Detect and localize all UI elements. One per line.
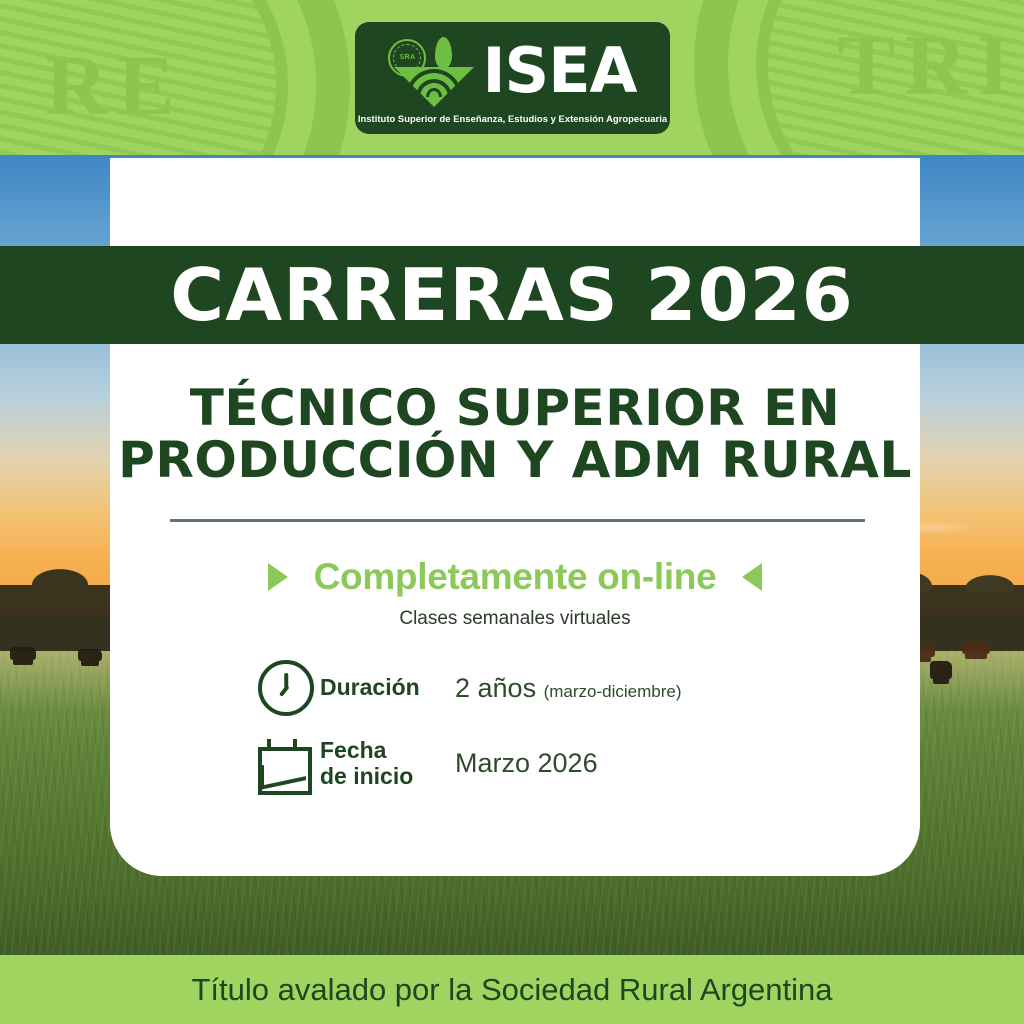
wifi-signal-icon — [408, 67, 460, 101]
details-list: Duración 2 años (marzo-diciembre) Fecha … — [258, 660, 918, 812]
footer-text: Título avalado por la Sociedad Rural Arg… — [191, 972, 832, 1008]
fecha-label-line-1: Fecha — [320, 738, 455, 764]
leaf-icon — [435, 37, 452, 69]
seal-watermark-letters: RE — [0, 0, 350, 155]
duracion-note: (marzo-diciembre) — [544, 682, 682, 701]
header-band: RE TRI SRA — [0, 0, 1024, 155]
cow — [78, 649, 102, 661]
detail-row-fecha-inicio: Fecha de inicio Marzo 2026 — [258, 738, 918, 790]
footer-band: Título avalado por la Sociedad Rural Arg… — [0, 955, 1024, 1024]
detail-label-fecha-inicio: Fecha de inicio — [320, 738, 455, 790]
clock-icon-face — [258, 660, 314, 716]
sra-seal-label: SRA — [400, 54, 416, 61]
clock-icon — [258, 660, 320, 716]
detail-value-fecha-inicio: Marzo 2026 — [455, 748, 598, 779]
cow — [962, 641, 990, 654]
triangle-left-icon — [742, 563, 762, 591]
calendar-icon — [258, 739, 320, 789]
triangle-right-icon — [268, 563, 288, 591]
seal-watermark-letters: TRI — [694, 0, 1024, 155]
online-headline: Completamente on-line — [314, 556, 717, 598]
carreras-band: CARRERAS 2026 — [0, 246, 1024, 344]
program-title: TÉCNICO SUPERIOR EN PRODUCCIÓN Y ADM RUR… — [110, 382, 920, 486]
detail-value-duracion: 2 años (marzo-diciembre) — [455, 673, 682, 704]
online-subtitle: Clases semanales virtuales — [110, 608, 920, 630]
title-divider — [170, 519, 865, 522]
online-highlight-row: Completamente on-line — [110, 556, 920, 598]
detail-label-duracion: Duración — [320, 675, 455, 701]
program-title-line-2: PRODUCCIÓN Y ADM RURAL — [110, 434, 920, 486]
logo-row: SRA ISEA — [388, 35, 636, 109]
isea-wordmark: ISEA — [482, 46, 636, 97]
sra-seal-watermark-left: RE — [0, 0, 350, 155]
duracion-value: 2 años — [455, 673, 536, 703]
isea-logo-mark-icon: SRA — [388, 37, 474, 107]
fecha-label-line-2: de inicio — [320, 764, 455, 790]
cow — [930, 661, 952, 679]
promo-poster: RE TRI SRA — [0, 0, 1024, 1024]
cow — [10, 647, 36, 660]
carreras-title: CARRERAS 2026 — [170, 253, 854, 337]
sra-seal-watermark-right: TRI — [694, 0, 1024, 155]
detail-row-duracion: Duración 2 años (marzo-diciembre) — [258, 660, 918, 716]
isea-logo: SRA ISEA Instituto Superior de Enseñanza… — [355, 22, 670, 134]
isea-tagline: Instituto Superior de Enseñanza, Estudio… — [358, 113, 667, 124]
calendar-icon-shape — [258, 739, 308, 789]
program-title-line-1: TÉCNICO SUPERIOR EN — [110, 382, 920, 434]
